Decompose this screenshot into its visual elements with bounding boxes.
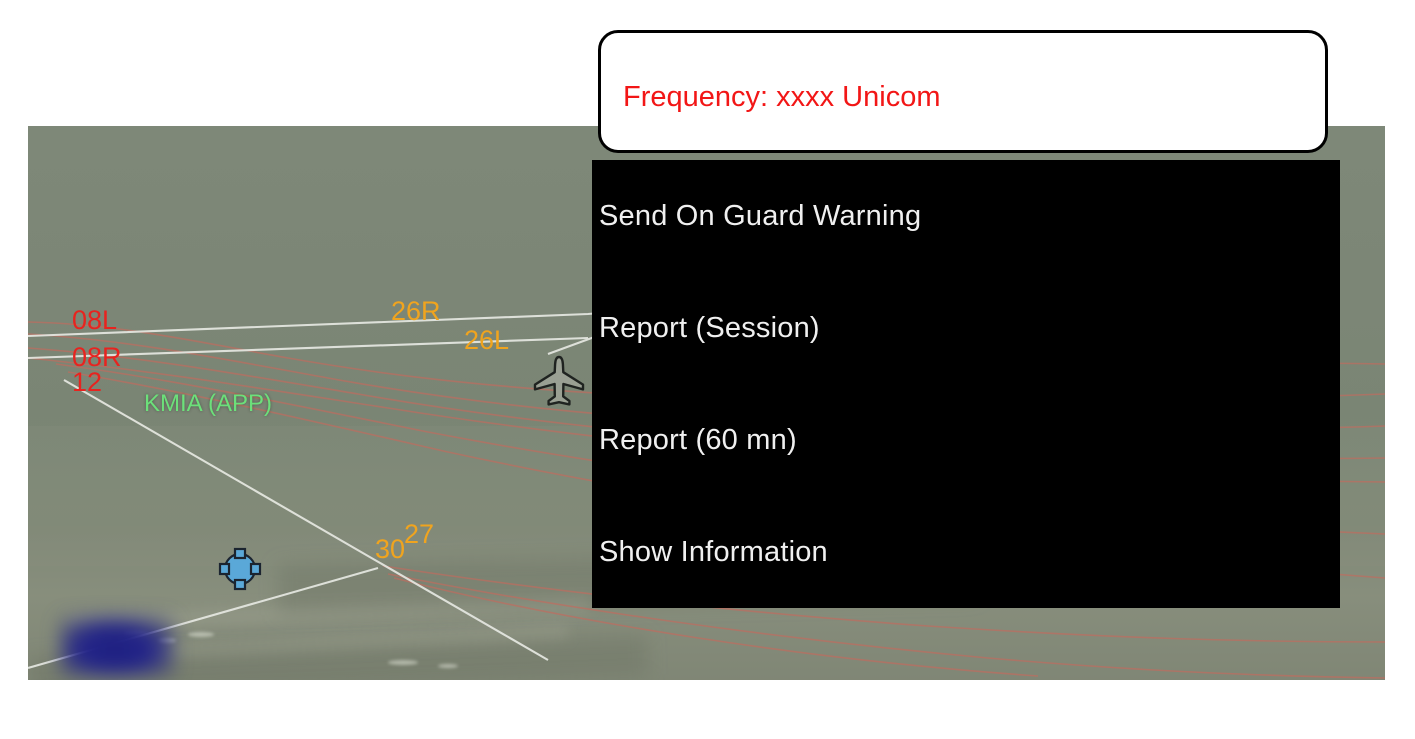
- frequency-text: Frequency: xxxx Unicom: [623, 81, 941, 114]
- menu-item-label: Report (Session): [599, 312, 820, 345]
- menu-item-send-on-guard-warning[interactable]: Send On Guard Warning: [592, 160, 1340, 272]
- airport-navaid-marker-icon[interactable]: [218, 547, 262, 591]
- menu-item-label: Send On Guard Warning: [599, 200, 921, 233]
- menu-item-label: Report (60 mn): [599, 424, 797, 457]
- menu-item-report-session[interactable]: Report (Session): [592, 272, 1340, 384]
- aircraft-icon[interactable]: [531, 355, 587, 407]
- context-menu[interactable]: Send On Guard Warning Report (Session) R…: [592, 160, 1340, 608]
- menu-item-report-60-mn[interactable]: Report (60 mn): [592, 384, 1340, 496]
- frequency-callout-box: Frequency: xxxx Unicom: [598, 30, 1328, 153]
- menu-item-label: Show Information: [599, 536, 828, 569]
- menu-item-show-information[interactable]: Show Information: [592, 496, 1340, 608]
